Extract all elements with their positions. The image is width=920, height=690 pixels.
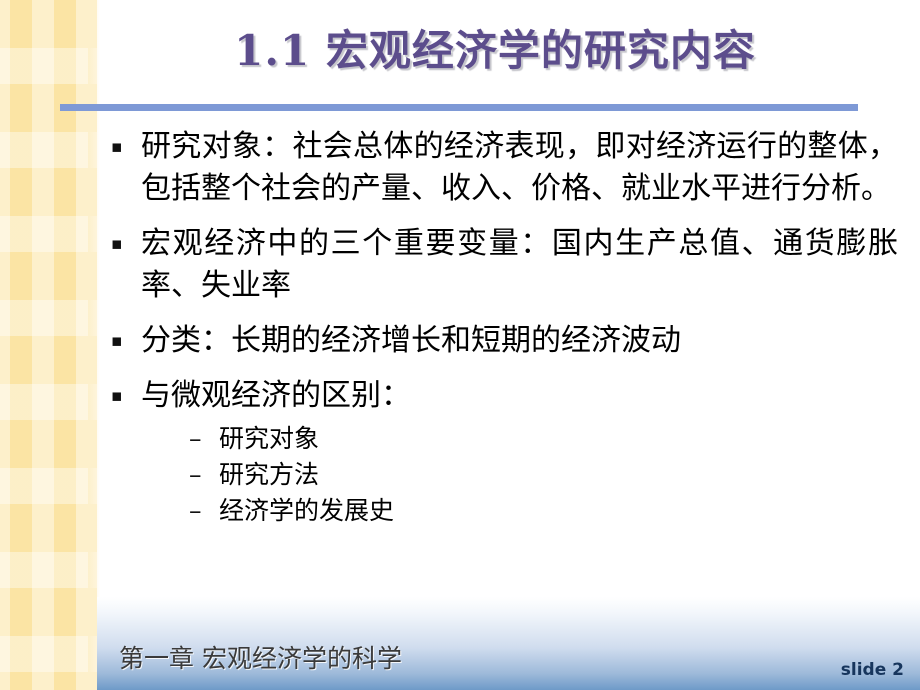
square-bullet-icon: ▪ xyxy=(111,320,123,362)
bullet-text: 与微观经济的区别： xyxy=(141,378,411,413)
sub-bullet-text: 研究方法 xyxy=(219,460,319,489)
slide-canvas: 1.1 宏观经济学的研究内容 ▪ 研究对象：社会总体的经济表现，即对经济运行的整… xyxy=(0,0,920,690)
bullet-item: ▪ 分类：长期的经济增长和短期的经济波动 xyxy=(108,320,898,362)
slide-title: 1.1 宏观经济学的研究内容 xyxy=(100,22,890,80)
square-bullet-icon: ▪ xyxy=(111,126,123,168)
bullet-item: ▪ 宏观经济中的三个重要变量：国内生产总值、通货膨胀率、失业率 xyxy=(108,223,898,307)
square-bullet-icon: ▪ xyxy=(111,375,123,417)
sub-bullet-text: 研究对象 xyxy=(219,424,319,453)
dash-bullet-icon: – xyxy=(189,493,202,529)
bullet-item: ▪ 与微观经济的区别： – 研究对象 – 研究方法 – 经济学的发展史 xyxy=(108,375,898,529)
dash-bullet-icon: – xyxy=(189,457,202,493)
footer-chapter-label: 第一章 宏观经济学的科学 xyxy=(119,644,402,674)
slide-footer: 第一章 宏观经济学的科学 slide 2 xyxy=(97,597,920,690)
slide-body: ▪ 研究对象：社会总体的经济表现，即对经济运行的整体，包括整个社会的产量、收入、… xyxy=(108,126,898,542)
slide-number-label: slide 2 xyxy=(841,659,904,681)
sub-bullet-text: 经济学的发展史 xyxy=(219,496,394,525)
bullet-text: 研究对象：社会总体的经济表现，即对经济运行的整体，包括整个社会的产量、收入、价格… xyxy=(141,129,898,206)
bullet-text: 分类：长期的经济增长和短期的经济波动 xyxy=(141,323,681,358)
dash-bullet-icon: – xyxy=(189,421,202,457)
sub-bullet-item: – 经济学的发展史 xyxy=(141,493,898,529)
title-divider-rule xyxy=(60,104,858,111)
bullet-text: 宏观经济中的三个重要变量：国内生产总值、通货膨胀率、失业率 xyxy=(141,226,898,303)
square-bullet-icon: ▪ xyxy=(111,223,123,265)
sub-bullet-item: – 研究方法 xyxy=(141,457,898,493)
sub-bullet-item: – 研究对象 xyxy=(141,421,898,457)
bullet-item: ▪ 研究对象：社会总体的经济表现，即对经济运行的整体，包括整个社会的产量、收入、… xyxy=(108,126,898,210)
sub-bullet-list: – 研究对象 – 研究方法 – 经济学的发展史 xyxy=(141,421,898,529)
